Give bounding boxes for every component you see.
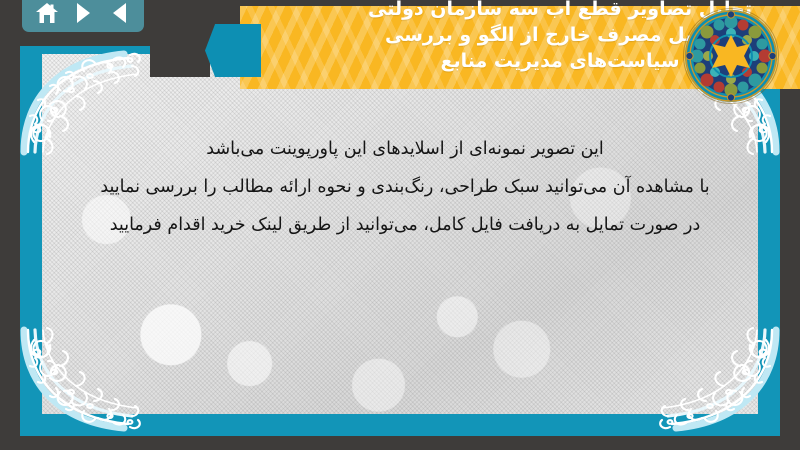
forward-button[interactable] (70, 1, 96, 25)
triangle-left-icon (113, 3, 126, 23)
banner-arrow-tab (205, 24, 261, 77)
body-line-3: در صورت تمایل به دریافت فایل کامل، می‌تو… (50, 206, 760, 244)
slide-body-text: این تصویر نمونه‌ای از اسلایدهای این پاور… (50, 130, 760, 244)
body-line-1: این تصویر نمونه‌ای از اسلایدهای این پاور… (50, 130, 760, 168)
slide-screenshot: تحلیل تصاویر قطع آب سه سازمان دولتی به د… (0, 0, 800, 450)
persian-medallion-icon (684, 9, 778, 103)
home-button[interactable] (34, 1, 60, 25)
body-line-2: با مشاهده آن می‌توانید سبک طراحی، رنگ‌بن… (50, 168, 760, 206)
triangle-right-icon (77, 3, 90, 23)
home-icon (35, 2, 59, 24)
back-button[interactable] (106, 1, 132, 25)
banner-notch (150, 24, 210, 77)
navigation-bar (22, 0, 144, 32)
